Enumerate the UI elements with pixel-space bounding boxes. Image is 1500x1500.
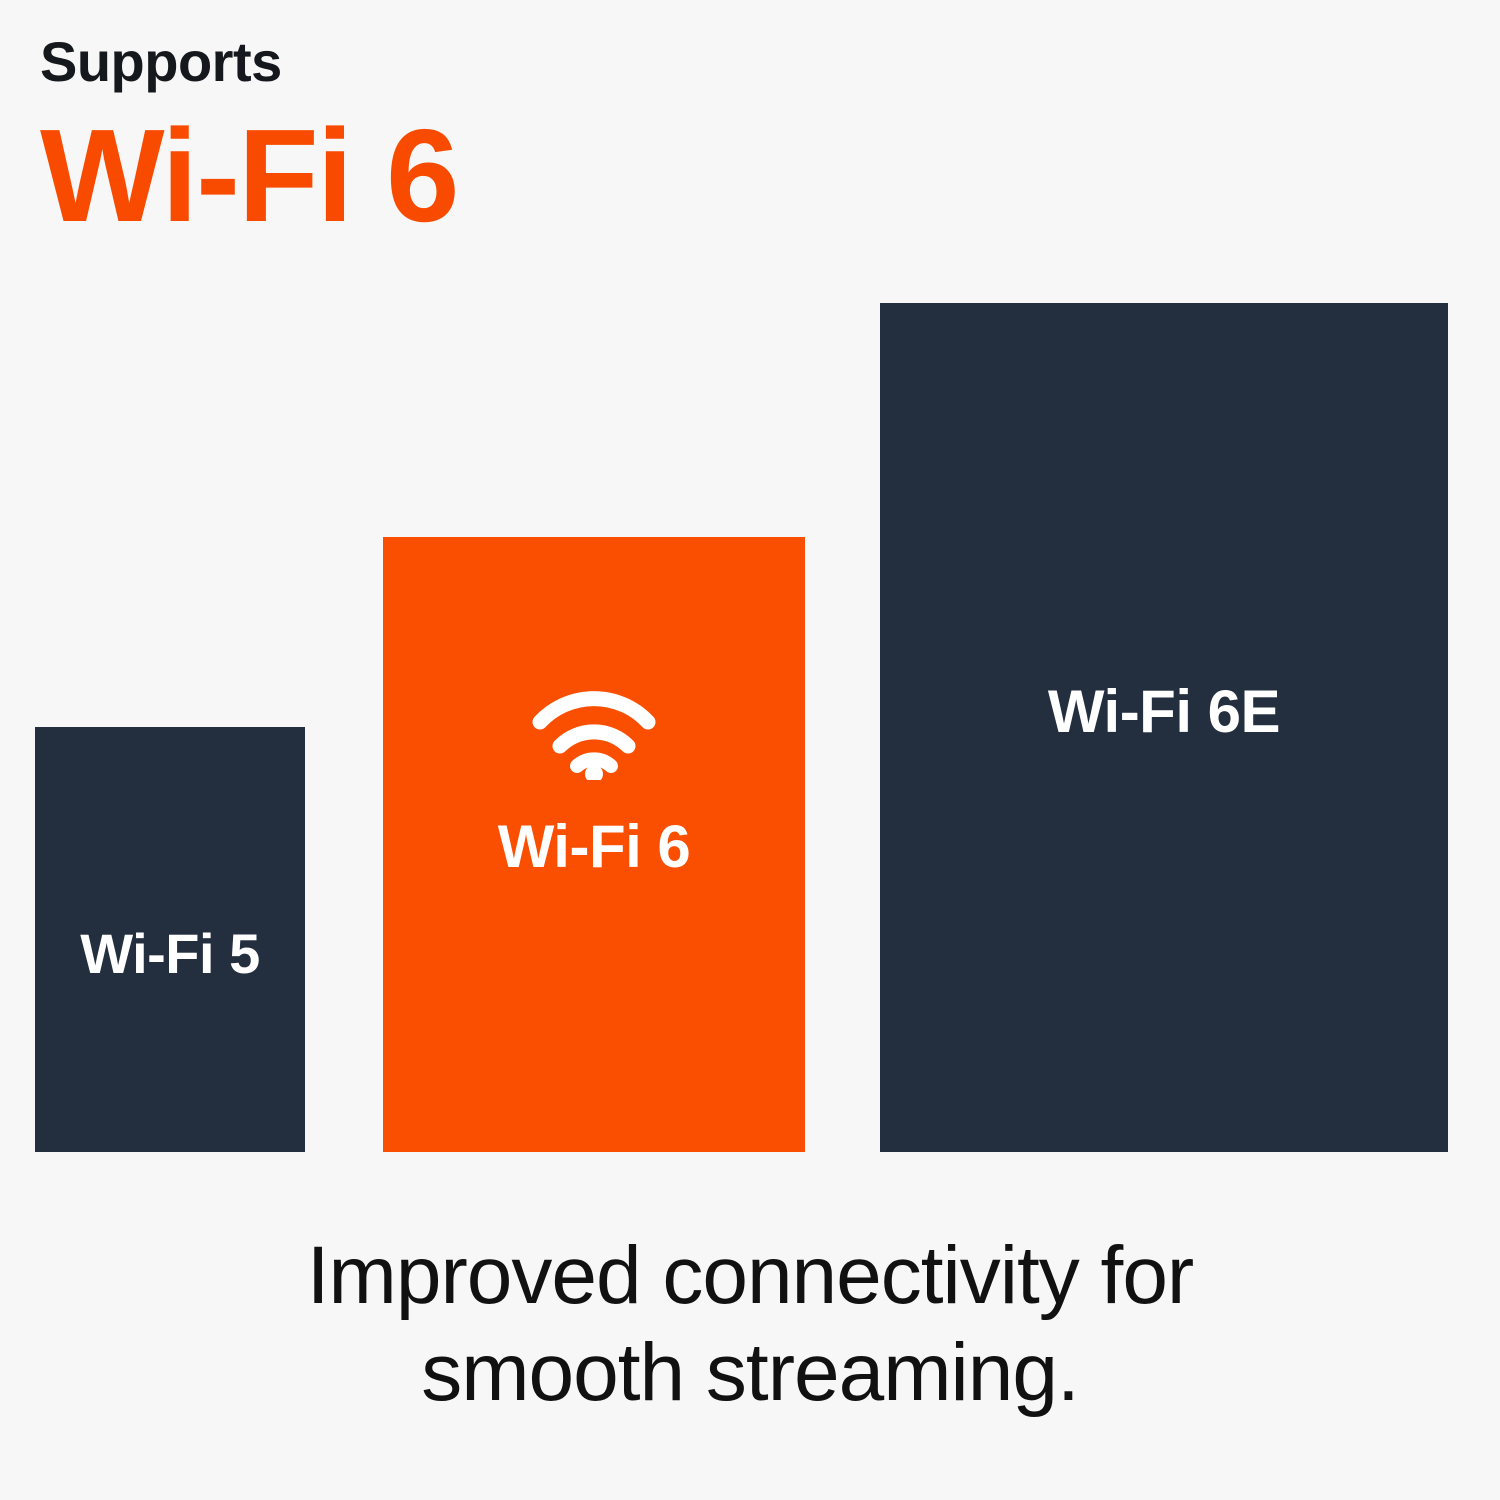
caption-text: Improved connectivity for smooth streami… [0, 1228, 1500, 1422]
bar-wifi6e: Wi-Fi 6E [880, 303, 1448, 1152]
bar-label-wifi6: Wi-Fi 6 [383, 817, 805, 877]
infographic-canvas: Supports Wi-Fi 6 Wi-Fi 5 Wi-Fi 6 Wi-Fi [0, 0, 1500, 1500]
bar-wifi5: Wi-Fi 5 [35, 727, 305, 1152]
wifi-signal-icon [530, 688, 658, 780]
bar-wifi6: Wi-Fi 6 [383, 537, 805, 1152]
caption-line-1: Improved connectivity for [0, 1228, 1500, 1325]
bar-label-wifi6e: Wi-Fi 6E [880, 682, 1448, 742]
caption-line-2: smooth streaming. [0, 1325, 1500, 1422]
bar-label-wifi5: Wi-Fi 5 [35, 926, 305, 982]
